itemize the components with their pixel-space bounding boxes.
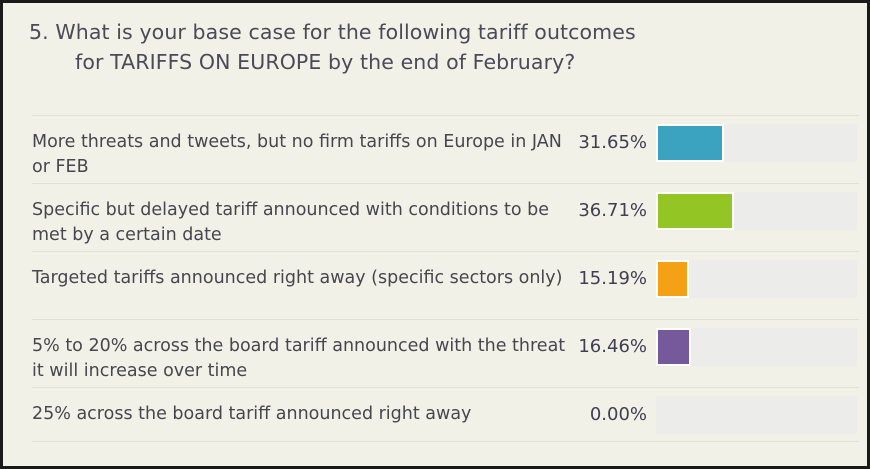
- answer-bar-cell: [656, 116, 859, 162]
- answer-label: More threats and tweets, but no firm tar…: [32, 116, 572, 180]
- question-line-2: for TARIFFS ON EUROPE by the end of Febr…: [29, 47, 843, 77]
- answer-row: 5% to 20% across the board tariff announ…: [32, 319, 859, 387]
- answer-bar-cell: [656, 184, 859, 230]
- answer-bar-cell: [656, 388, 859, 434]
- answer-percent-value: 31.65%: [572, 116, 656, 155]
- answer-label: Specific but delayed tariff announced wi…: [32, 184, 572, 248]
- bar-track: [656, 328, 857, 366]
- survey-question-card: 5. What is your base case for the follow…: [3, 3, 867, 466]
- answer-row: 25% across the board tariff announced ri…: [32, 387, 859, 442]
- answer-rows-list: More threats and tweets, but no firm tar…: [3, 115, 867, 442]
- answer-row: More threats and tweets, but no firm tar…: [32, 115, 859, 183]
- answer-bar-cell: [656, 320, 859, 366]
- bar-track: [656, 260, 857, 298]
- answer-label: 25% across the board tariff announced ri…: [32, 388, 572, 427]
- answer-label: Targeted tariffs announced right away (s…: [32, 252, 572, 291]
- answer-percent-value: 36.71%: [572, 184, 656, 223]
- answer-row: Specific but delayed tariff announced wi…: [32, 183, 859, 251]
- bar-track: [656, 396, 857, 434]
- bar-fill: [656, 192, 734, 230]
- answer-percent-value: 15.19%: [572, 252, 656, 291]
- answer-percent-value: 0.00%: [572, 388, 656, 427]
- answer-bar-cell: [656, 252, 859, 298]
- answer-percent-value: 16.46%: [572, 320, 656, 359]
- question-line-1: 5. What is your base case for the follow…: [29, 17, 843, 47]
- answer-label: 5% to 20% across the board tariff announ…: [32, 320, 572, 384]
- bar-track: [656, 192, 857, 230]
- answer-row: Targeted tariffs announced right away (s…: [32, 251, 859, 319]
- question-heading: 5. What is your base case for the follow…: [3, 3, 867, 77]
- bar-track: [656, 124, 857, 162]
- bar-fill: [656, 124, 724, 162]
- bar-fill: [656, 328, 691, 366]
- bar-fill: [656, 260, 689, 298]
